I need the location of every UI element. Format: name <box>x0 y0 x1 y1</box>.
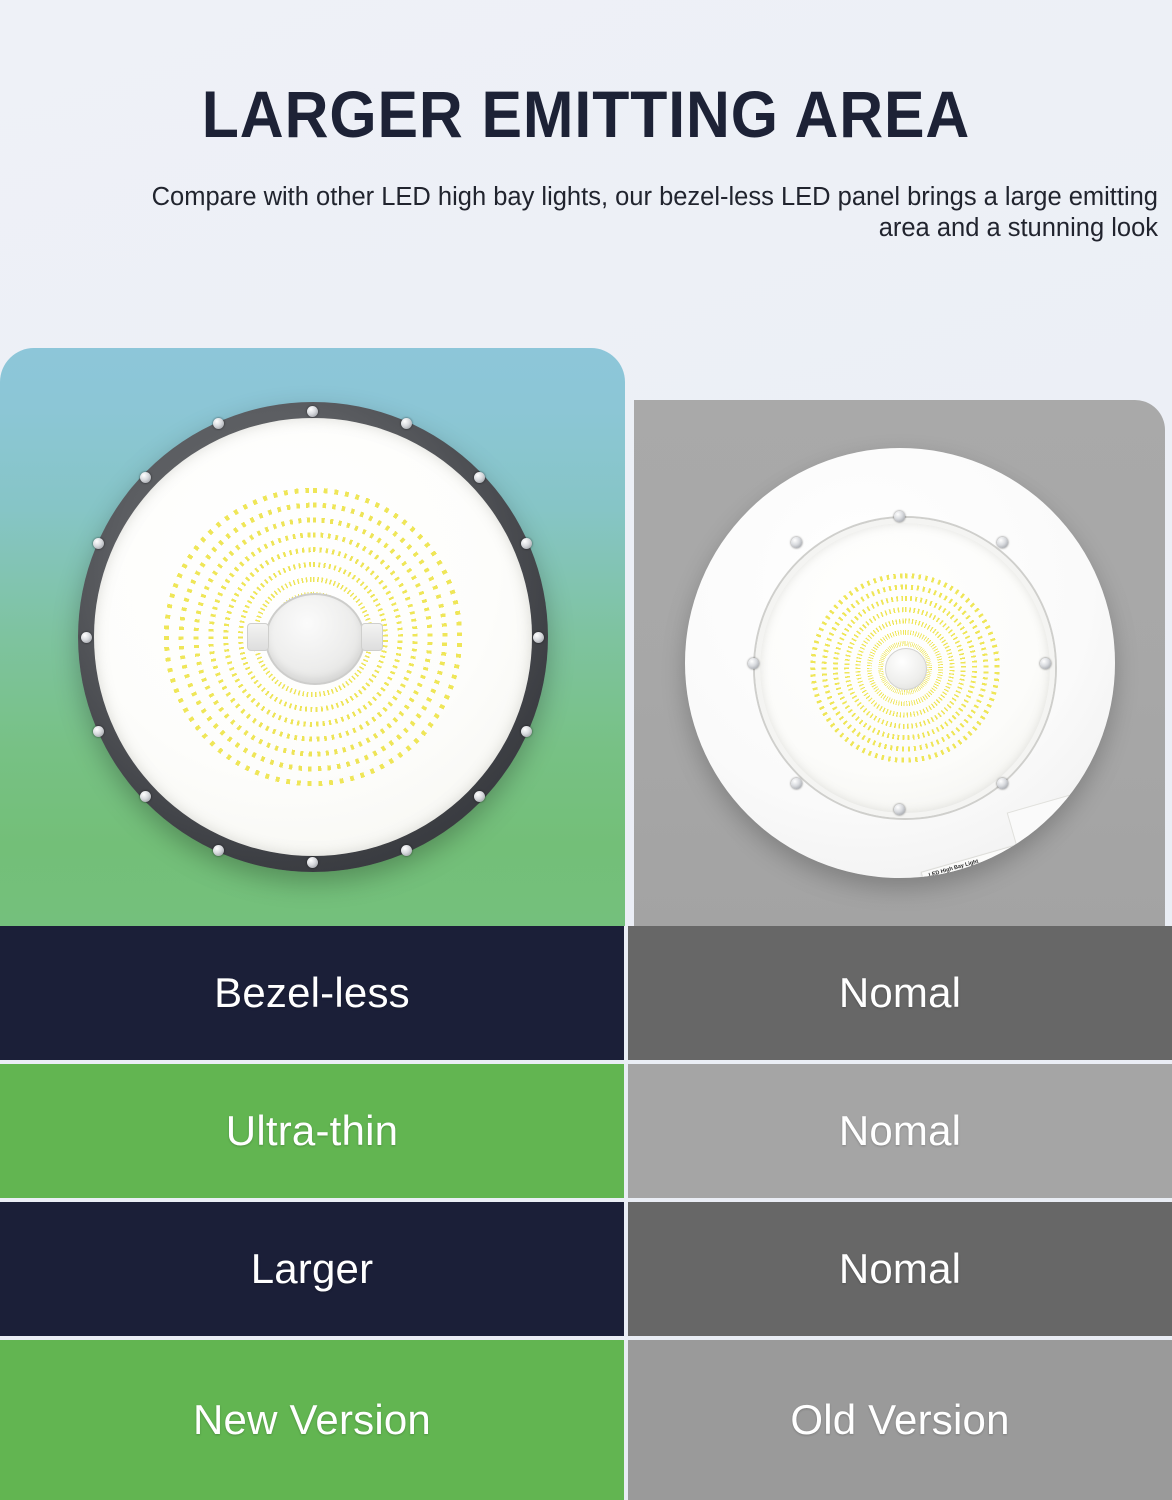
rim-screw <box>307 406 318 417</box>
old-version-cell: Old Version <box>628 1340 1172 1500</box>
rim-screw <box>521 538 532 549</box>
rim-screw <box>140 791 151 802</box>
new-feature-cell: Bezel-less <box>0 926 624 1060</box>
old-product-panel: LED High Bay Light Model: WD-UFO-240W Ra… <box>634 400 1165 926</box>
rim-screw <box>93 726 104 737</box>
rim-screw <box>213 418 224 429</box>
rim-screw <box>474 791 485 802</box>
rim-screw <box>307 857 318 868</box>
rim-screw <box>1040 658 1051 669</box>
normal-light-image: LED High Bay Light Model: WD-UFO-240W Ra… <box>685 448 1115 878</box>
rim-screw <box>997 778 1008 789</box>
page-title: LARGER EMITTING AREA <box>47 78 1125 150</box>
header: LARGER EMITTING AREA Compare with other … <box>0 0 1172 348</box>
page-subtitle: Compare with other LED high bay lights, … <box>146 182 1158 244</box>
rim-screw <box>791 778 802 789</box>
center-dome <box>885 648 927 690</box>
certification-chip <box>1013 844 1049 872</box>
rim-screw <box>81 632 92 643</box>
center-dome <box>265 593 365 685</box>
rim-screw <box>474 472 485 483</box>
table-row: Larger Nomal <box>0 1202 1172 1336</box>
comparison-table: Bezel-less Nomal Ultra-thin Nomal Larger… <box>0 926 1172 1500</box>
table-row: New Version Old Version <box>0 1340 1172 1500</box>
led-lens-surface <box>755 518 1055 818</box>
rim-screw <box>791 537 802 548</box>
new-version-cell: New Version <box>0 1340 624 1500</box>
rim-screw <box>533 632 544 643</box>
rim-screw <box>140 472 151 483</box>
rim-screw <box>894 804 905 815</box>
new-product-panel <box>0 348 625 926</box>
old-feature-cell: Nomal <box>628 926 1172 1060</box>
infographic-root: LARGER EMITTING AREA Compare with other … <box>0 0 1172 1500</box>
rim-screw <box>748 658 759 669</box>
rim-screw <box>521 726 532 737</box>
rim-screw <box>401 845 412 856</box>
led-lens-surface <box>94 418 532 856</box>
old-feature-cell: Nomal <box>628 1202 1172 1336</box>
new-feature-cell: Larger <box>0 1202 624 1336</box>
table-row: Ultra-thin Nomal <box>0 1064 1172 1198</box>
new-feature-cell: Ultra-thin <box>0 1064 624 1198</box>
old-feature-cell: Nomal <box>628 1064 1172 1198</box>
bezel-less-light-image <box>78 402 548 872</box>
rim-screw <box>93 538 104 549</box>
rim-screw <box>401 418 412 429</box>
table-row: Bezel-less Nomal <box>0 926 1172 1060</box>
rim-screw <box>213 845 224 856</box>
